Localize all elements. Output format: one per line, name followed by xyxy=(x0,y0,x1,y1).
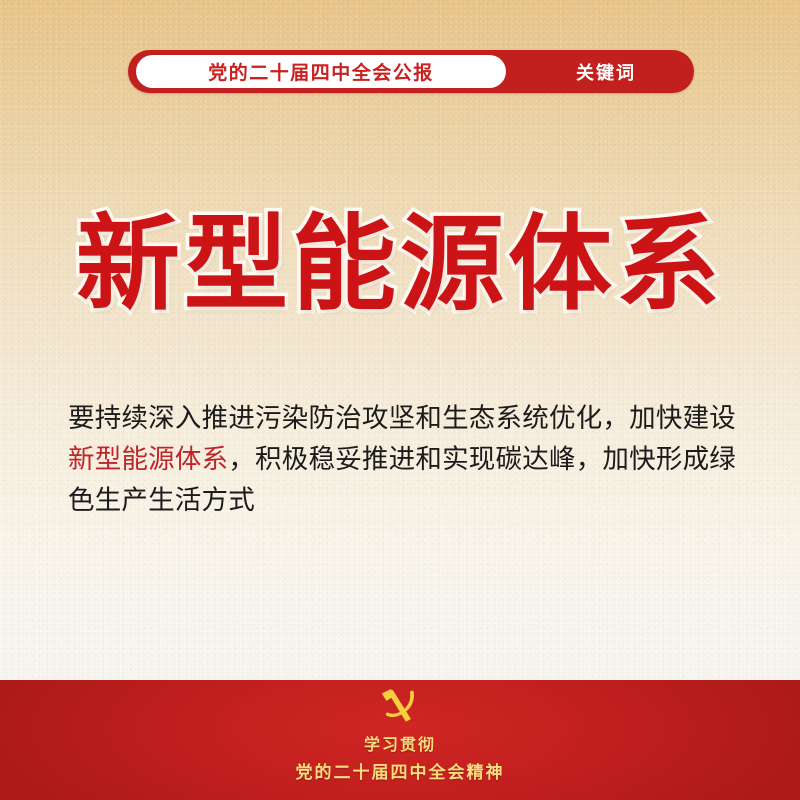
header-bar: 党的二十届四中全会公报 关键词 xyxy=(128,50,694,93)
footer-line-2: 党的二十届四中全会精神 xyxy=(296,758,505,783)
body-text-run: 要持续深入推进污染防治攻坚和生态系统优化，加快建设 xyxy=(68,403,736,434)
footer-line-1: 学习贯彻 xyxy=(364,731,436,755)
body-highlight-run: 新型能源体系 xyxy=(68,444,228,475)
header-tag-label: 关键词 xyxy=(576,59,636,85)
header-tag[interactable]: 关键词 xyxy=(518,50,694,93)
header-pill-label: 党的二十届四中全会公报 xyxy=(208,58,434,85)
footer-banner: 学习贯彻 党的二十届四中全会精神 xyxy=(0,680,800,800)
body-paragraph: 要持续深入推进污染防治攻坚和生态系统优化，加快建设新型能源体系，积极稳妥推进和实… xyxy=(68,398,736,521)
hammer-and-sickle-icon xyxy=(377,689,423,729)
page-title: 新型能源体系 xyxy=(0,206,800,322)
header-pill[interactable]: 党的二十届四中全会公报 xyxy=(136,55,506,88)
poster-canvas: 党的二十届四中全会公报 关键词 新型能源体系 要持续深入推进污染防治攻坚和生态系… xyxy=(0,0,800,800)
